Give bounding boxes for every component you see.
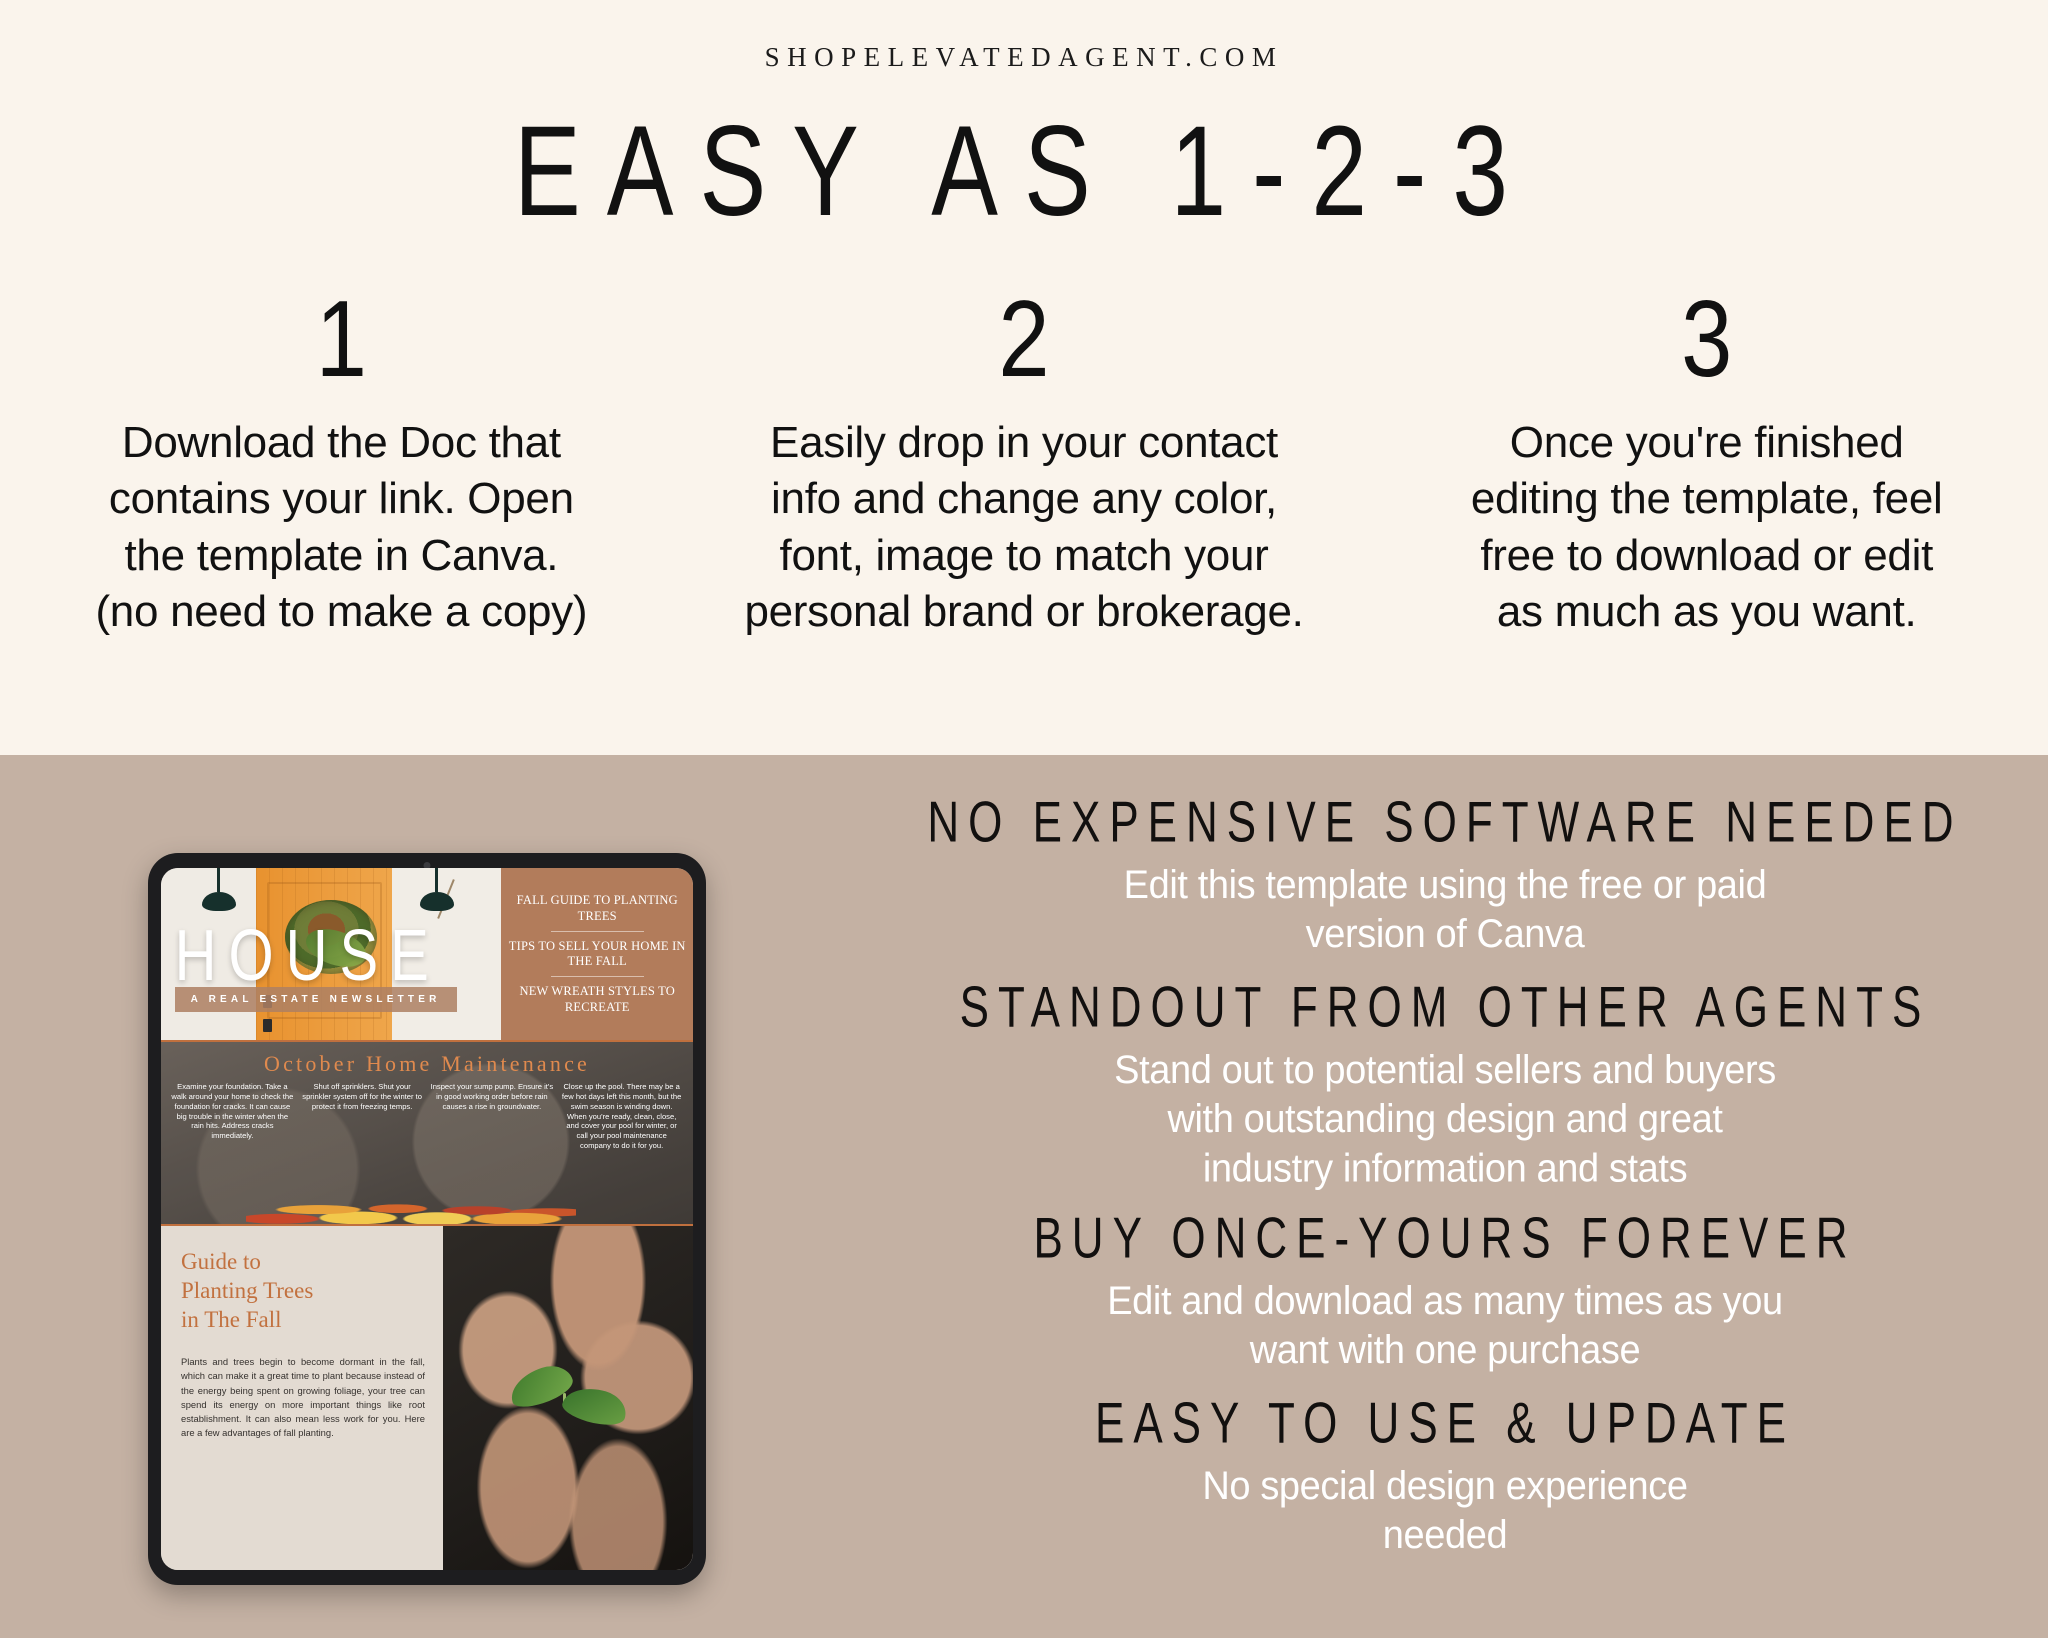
newsletter-toc: FALL GUIDE TO PLANTING TREES TIPS TO SEL… (501, 868, 693, 1040)
step-number: 1 (316, 285, 367, 394)
divider (551, 976, 644, 977)
toc-item: TIPS TO SELL YOUR HOME IN THE FALL (507, 939, 687, 970)
feature-heading: EASY TO USE & UPDATE (880, 1392, 2010, 1457)
newsletter-hero: HOUSE A REAL ESTATE NEWSLETTER FALL GUID… (161, 868, 693, 1040)
step-description: Download the Doc that contains your link… (81, 415, 601, 640)
article-photo (443, 1226, 693, 1570)
door-handle-icon (263, 1019, 272, 1032)
feature-item: NO EXPENSIVE SOFTWARE NEEDED Edit this t… (880, 791, 2010, 954)
maintenance-columns: Examine your foundation. Take a walk aro… (171, 1082, 683, 1151)
top-section: SHOPELEVATEDAGENT.COM EASY AS 1-2-3 1 Do… (0, 0, 2048, 755)
feature-item: BUY ONCE-YOURS FOREVER Edit and download… (880, 1207, 2010, 1370)
step-2: 2 Easily drop in your contact info and c… (683, 285, 1366, 640)
newsletter-subtitle: A REAL ESTATE NEWSLETTER (175, 987, 457, 1012)
feature-body: No special design experience needed (880, 1462, 2010, 1560)
step-number: 2 (998, 285, 1049, 394)
steps-row: 1 Download the Doc that contains your li… (0, 285, 2048, 640)
article-body: Plants and trees begin to become dormant… (181, 1355, 425, 1441)
pendant-lamp-icon (420, 868, 454, 911)
divider (551, 931, 644, 932)
feature-heading: NO EXPENSIVE SOFTWARE NEEDED (880, 791, 2010, 856)
toc-item: FALL GUIDE TO PLANTING TREES (507, 893, 687, 924)
step-1: 1 Download the Doc that contains your li… (0, 285, 683, 640)
article-section: Guide to Planting Trees in The Fall Plan… (161, 1226, 693, 1570)
pendant-lamp-icon (202, 868, 236, 911)
feature-body: Edit and download as many times as you w… (880, 1277, 2010, 1375)
step-description: Once you're finished editing the templat… (1463, 415, 1951, 640)
autumn-leaves-icon (246, 1182, 576, 1226)
feature-heading: STANDOUT FROM OTHER AGENTS (880, 976, 2010, 1041)
article-text-column: Guide to Planting Trees in The Fall Plan… (161, 1226, 443, 1570)
feature-body: Stand out to potential sellers and buyer… (880, 1046, 2010, 1193)
step-number: 3 (1681, 285, 1732, 394)
feature-list: NO EXPENSIVE SOFTWARE NEEDED Edit this t… (880, 791, 2010, 1576)
maintenance-title: October Home Maintenance (171, 1051, 683, 1077)
maintenance-section: October Home Maintenance Examine your fo… (161, 1040, 693, 1226)
newsletter-masthead: HOUSE (175, 920, 441, 993)
step-3: 3 Once you're finished editing the templ… (1365, 285, 2048, 640)
page-title: EASY AS 1-2-3 (0, 105, 2048, 239)
step-description: Easily drop in your contact info and cha… (736, 415, 1311, 640)
feature-body: Edit this template using the free or pai… (880, 861, 2010, 959)
site-url: SHOPELEVATEDAGENT.COM (0, 42, 2048, 73)
feature-heading: BUY ONCE-YOURS FOREVER (880, 1207, 2010, 1272)
maintenance-tip: Shut off sprinklers. Shut your sprinkler… (301, 1082, 424, 1151)
hero-photo: HOUSE A REAL ESTATE NEWSLETTER (161, 868, 501, 1040)
toc-item: NEW WREATH STYLES TO RECREATE (507, 984, 687, 1015)
seedling-icon (509, 1367, 627, 1429)
article-title: Guide to Planting Trees in The Fall (181, 1248, 425, 1335)
tablet-screen: HOUSE A REAL ESTATE NEWSLETTER FALL GUID… (161, 868, 693, 1570)
maintenance-tip: Inspect your sump pump. Ensure it's in g… (431, 1082, 554, 1151)
tablet-mockup: HOUSE A REAL ESTATE NEWSLETTER FALL GUID… (148, 853, 706, 1585)
maintenance-tip: Close up the pool. There may be a few ho… (560, 1082, 683, 1151)
maintenance-tip: Examine your foundation. Take a walk aro… (171, 1082, 294, 1151)
bottom-section: HOUSE A REAL ESTATE NEWSLETTER FALL GUID… (0, 755, 2048, 1638)
feature-item: STANDOUT FROM OTHER AGENTS Stand out to … (880, 976, 2010, 1185)
feature-item: EASY TO USE & UPDATE No special design e… (880, 1392, 2010, 1555)
